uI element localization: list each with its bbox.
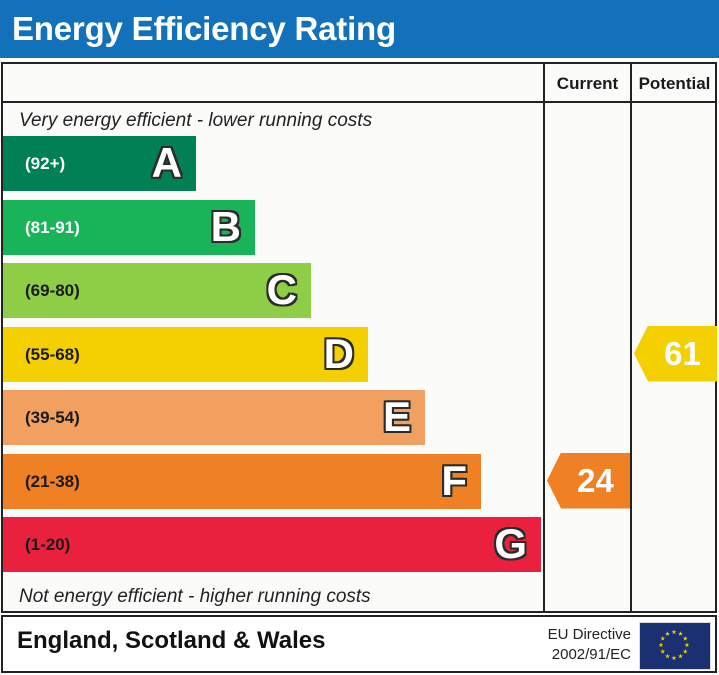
band-letter-d: D	[324, 327, 354, 382]
rating-value-potential: 61	[648, 326, 717, 382]
band-letter-a: A	[152, 136, 182, 191]
rating-band-g: (1-20)G	[3, 517, 541, 572]
caption-not-efficient: Not energy efficient - higher running co…	[19, 586, 371, 608]
footer-region-label: England, Scotland & Wales	[17, 627, 325, 655]
eu-directive-text: EU Directive 2002/91/EC	[523, 625, 631, 665]
band-range-c: (69-80)	[25, 263, 80, 318]
rating-band-e: (39-54)E	[3, 390, 425, 445]
band-letter-e: E	[383, 390, 411, 445]
band-letter-g: G	[494, 517, 527, 572]
band-letter-c: C	[267, 263, 297, 318]
eu-directive-line2: 2002/91/EC	[523, 645, 631, 665]
column-header-current: Current	[545, 72, 630, 96]
rating-value-current: 24	[561, 453, 630, 509]
header-divider	[3, 101, 715, 103]
rating-table: Current Potential Very energy efficient …	[1, 62, 717, 613]
eu-flag-icon	[639, 622, 711, 670]
rating-bands: (92+)A(81-91)B(69-80)C(55-68)D(39-54)E(2…	[3, 136, 543, 580]
band-range-g: (1-20)	[25, 517, 70, 572]
chart-footer: England, Scotland & Wales EU Directive 2…	[1, 615, 717, 673]
rating-band-c: (69-80)C	[3, 263, 311, 318]
rating-marker-current: 24	[547, 453, 630, 509]
rating-band-a: (92+)A	[3, 136, 196, 191]
band-range-a: (92+)	[25, 136, 65, 191]
energy-efficiency-rating-chart: Energy Efficiency Rating Current Potenti…	[0, 0, 719, 675]
band-range-e: (39-54)	[25, 390, 80, 445]
band-letter-b: B	[211, 200, 241, 255]
chart-title-bar: Energy Efficiency Rating	[0, 0, 719, 58]
band-letter-f: F	[441, 454, 467, 509]
band-range-f: (21-38)	[25, 454, 80, 509]
rating-marker-potential: 61	[634, 326, 717, 382]
rating-band-b: (81-91)B	[3, 200, 255, 255]
rating-band-d: (55-68)D	[3, 327, 368, 382]
caption-very-efficient: Very energy efficient - lower running co…	[19, 110, 372, 132]
eu-directive-line1: EU Directive	[523, 625, 631, 645]
band-range-b: (81-91)	[25, 200, 80, 255]
rating-band-f: (21-38)F	[3, 454, 481, 509]
band-range-d: (55-68)	[25, 327, 80, 382]
current-column-divider	[543, 64, 545, 611]
page-title: Energy Efficiency Rating	[12, 8, 396, 50]
potential-column-divider	[630, 64, 632, 611]
column-header-potential: Potential	[632, 72, 717, 96]
